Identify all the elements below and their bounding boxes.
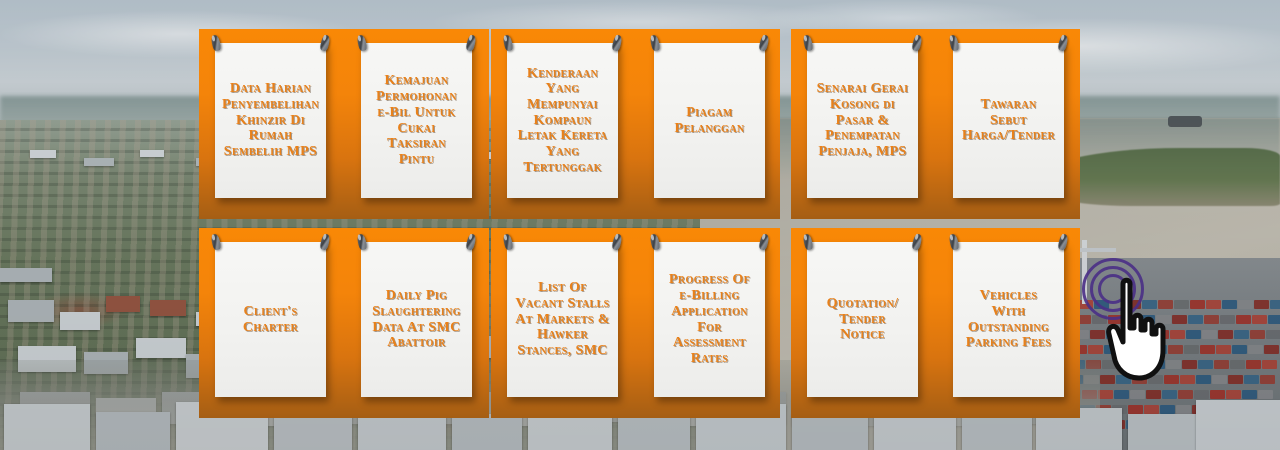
screen: Data Harian Penyembelihan Khinzir Di Rum… xyxy=(0,0,1280,450)
service-card[interactable]: Daily Pig Slaughtering Data At SMC Abatt… xyxy=(361,242,472,397)
service-card[interactable]: Client's Charter xyxy=(215,242,326,397)
service-card-title: Tawaran Sebut Harga/Tender xyxy=(961,97,1056,144)
service-card-title: Piagam Pelanggan xyxy=(662,105,757,136)
service-card-title: Daily Pig Slaughtering Data At SMC Abatt… xyxy=(369,288,464,351)
service-card-title: Progress Of e-Billing Application For As… xyxy=(662,272,757,366)
service-card-title: Senarai Gerai Kosong di Pasar & Penempat… xyxy=(815,81,910,159)
service-card-title: Vehicles With Outstanding Parking Fees xyxy=(961,288,1056,351)
service-card-title: Quotation/ Tender Notice xyxy=(815,296,910,343)
service-card-title: Kemajuan Permohonan e-Bil Untuk Cukai Ta… xyxy=(369,73,464,167)
service-card[interactable]: Piagam Pelanggan xyxy=(654,43,765,198)
service-card[interactable]: List Of Vacant Stalls At Markets & Hawke… xyxy=(507,242,618,397)
service-card[interactable]: Kenderaan Yang Mempunyai Kompaun Letak K… xyxy=(507,43,618,198)
service-card[interactable]: Senarai Gerai Kosong di Pasar & Penempat… xyxy=(807,43,918,198)
service-card[interactable]: Vehicles With Outstanding Parking Fees xyxy=(953,242,1064,397)
service-card-title: Data Harian Penyembelihan Khinzir Di Rum… xyxy=(222,81,319,159)
service-card[interactable]: Data Harian Penyembelihan Khinzir Di Rum… xyxy=(215,43,326,198)
service-card[interactable]: Kemajuan Permohonan e-Bil Untuk Cukai Ta… xyxy=(361,43,472,198)
service-card[interactable]: Tawaran Sebut Harga/Tender xyxy=(953,43,1064,198)
service-card-title: Kenderaan Yang Mempunyai Kompaun Letak K… xyxy=(515,66,610,176)
service-card-title: List Of Vacant Stalls At Markets & Hawke… xyxy=(515,280,610,358)
service-card-title: Client's Charter xyxy=(223,304,318,335)
service-card[interactable]: Progress Of e-Billing Application For As… xyxy=(654,242,765,397)
service-card[interactable]: Quotation/ Tender Notice xyxy=(807,242,918,397)
